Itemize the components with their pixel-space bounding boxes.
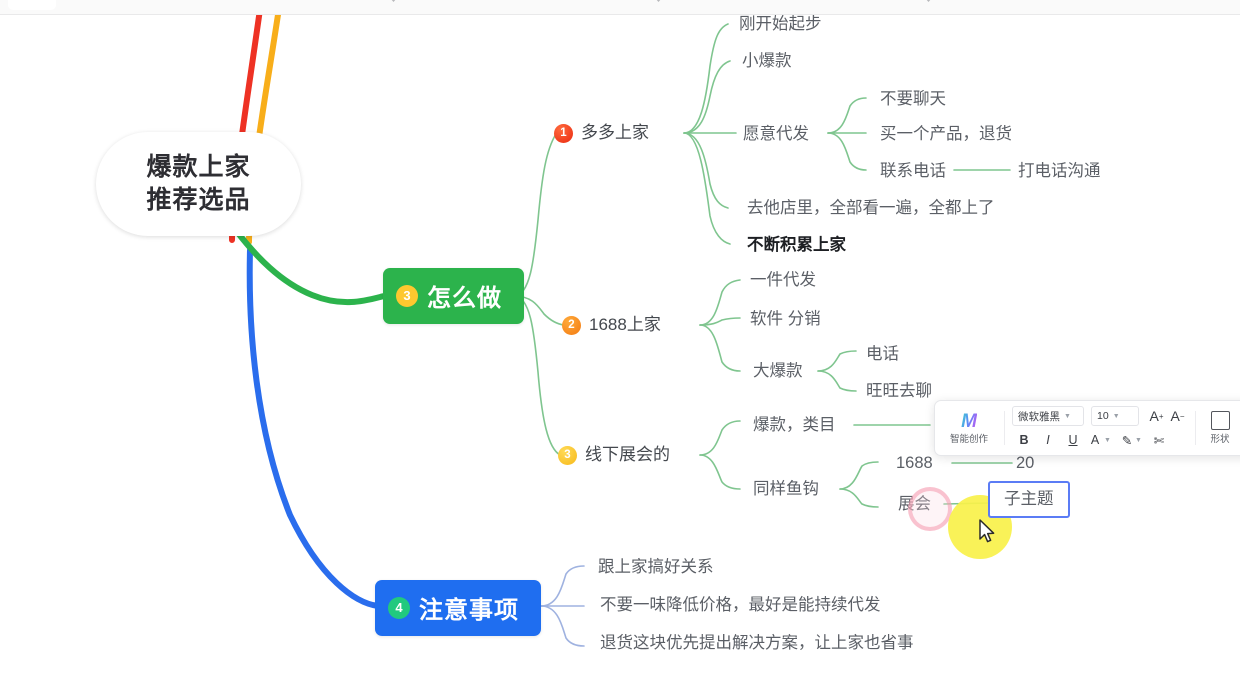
topic-20[interactable]: 20: [1016, 453, 1034, 473]
topic-buy-and-return[interactable]: 买一个产品，退货: [880, 124, 1012, 144]
branch-label: 注意事项: [419, 590, 519, 625]
topic-wangwang-chat[interactable]: 旺旺去聊: [866, 381, 932, 401]
decrease-font-size-button[interactable]: A−: [1167, 406, 1188, 426]
chevron-down-icon[interactable]: [925, 0, 932, 2]
text-color-button[interactable]: A: [1086, 430, 1104, 450]
topic-badge: 2: [562, 316, 581, 335]
topic-label: 多多上家: [581, 123, 649, 143]
font-size-value: 10: [1097, 410, 1109, 422]
format-toolbar[interactable]: M 智能创作 微软雅黑 ▼ 10 ▼ A+ A−: [934, 400, 1240, 456]
branch-node-notes[interactable]: 4 注意事项: [375, 580, 541, 636]
font-family-value: 微软雅黑: [1018, 409, 1060, 424]
underline-button[interactable]: U: [1060, 430, 1086, 450]
root-node[interactable]: 爆款上家 推荐选品: [96, 132, 301, 236]
toolbar-divider: [1004, 411, 1005, 445]
shape-button[interactable]: 形状: [1205, 411, 1235, 445]
square-icon: [1211, 411, 1230, 430]
chevron-down-icon[interactable]: [655, 0, 662, 2]
topic-duoduo-supplier[interactable]: 1 多多上家: [554, 123, 649, 143]
text-format-group: 微软雅黑 ▼ 10 ▼ A+ A− B I U: [1012, 405, 1188, 451]
branch-badge: 3: [396, 285, 418, 307]
topic-software-distribution[interactable]: 软件 分销: [750, 309, 821, 329]
topic-small-hit[interactable]: 小爆款: [742, 51, 792, 71]
shape-format-group: 形状 填充 边框: [1203, 405, 1240, 451]
ai-compose-button[interactable]: M 智能创作: [941, 405, 997, 451]
topic-visit-store[interactable]: 去他店里，全部看一遍，全都上了: [747, 198, 995, 218]
font-size-select[interactable]: 10 ▼: [1091, 406, 1139, 426]
topic-one-piece-dropship[interactable]: 一件代发: [750, 270, 816, 290]
topic-badge: 1: [554, 124, 573, 143]
toolbar-divider: [1195, 411, 1196, 445]
topic-phone[interactable]: 电话: [866, 344, 899, 364]
branch-node-howto[interactable]: 3 怎么做: [383, 268, 524, 324]
plus-icon: +: [1159, 412, 1164, 421]
highlight-color-button[interactable]: ✎: [1119, 430, 1135, 450]
bold-button[interactable]: B: [1012, 430, 1036, 450]
topic-label: 1688上家: [589, 315, 661, 335]
topic-1688-supplier[interactable]: 2 1688上家: [562, 315, 661, 335]
topic-same-fish-hook[interactable]: 同样鱼钩: [753, 479, 819, 499]
topic-willing-dropship[interactable]: 愿意代发: [743, 124, 809, 144]
increase-font-size-button[interactable]: A+: [1146, 406, 1167, 426]
toolbar-chip: [8, 0, 56, 10]
topic-phone-call[interactable]: 打电话沟通: [1018, 161, 1101, 181]
minus-icon: −: [1180, 412, 1185, 421]
mouse-cursor-icon: [979, 519, 997, 545]
italic-button[interactable]: I: [1036, 430, 1060, 450]
branch-label: 怎么做: [427, 278, 502, 313]
ai-sparkle-icon: M: [961, 412, 977, 432]
topic-big-hit[interactable]: 大爆款: [753, 361, 803, 381]
topic-return-solution[interactable]: 退货这块优先提出解决方案，让上家也省事: [600, 633, 914, 653]
chevron-down-icon[interactable]: [390, 0, 397, 2]
topic-good-relationship[interactable]: 跟上家搞好关系: [598, 557, 714, 577]
topic-offline-expo[interactable]: 3 线下展会的: [558, 445, 670, 465]
editing-node-subtopic[interactable]: 子主题: [988, 481, 1070, 518]
mindmap-canvas[interactable]: 爆款上家 推荐选品 3 怎么做 4 注意事项 1 多多上家 2 1688上家 3…: [0, 0, 1240, 695]
app-toolbar-strip[interactable]: [0, 0, 1240, 15]
topic-hit-category[interactable]: 爆款，类目: [753, 415, 836, 435]
topic-accumulate-suppliers[interactable]: 不断积累上家: [747, 235, 846, 255]
font-family-select[interactable]: 微软雅黑 ▼: [1012, 406, 1084, 426]
topic-just-starting[interactable]: 刚开始起步: [739, 14, 822, 34]
root-line-1: 爆款上家: [146, 151, 250, 184]
chevron-down-icon[interactable]: ▼: [1135, 437, 1142, 444]
shape-label: 形状: [1210, 434, 1229, 445]
decrease-font-size-label: A: [1170, 408, 1179, 424]
clear-format-button[interactable]: ✄: [1150, 430, 1168, 450]
topic-contact-phone[interactable]: 联系电话: [880, 161, 946, 181]
topic-dont-lower-price[interactable]: 不要一味降低价格，最好是能持续代发: [600, 595, 881, 615]
branch-badge: 4: [388, 597, 410, 619]
connector-lines: [0, 0, 1240, 695]
topic-label: 线下展会的: [585, 445, 670, 465]
highlight-ring-expo: [908, 487, 952, 531]
chevron-down-icon[interactable]: ▼: [1104, 437, 1111, 444]
root-line-2: 推荐选品: [146, 184, 250, 217]
ai-compose-label: 智能创作: [950, 434, 988, 445]
topic-no-chat[interactable]: 不要聊天: [880, 89, 946, 109]
increase-font-size-label: A: [1149, 408, 1158, 424]
chevron-down-icon: ▼: [1064, 413, 1071, 420]
chevron-down-icon: ▼: [1113, 413, 1120, 420]
topic-badge: 3: [558, 446, 577, 465]
topic-1688[interactable]: 1688: [896, 453, 933, 473]
